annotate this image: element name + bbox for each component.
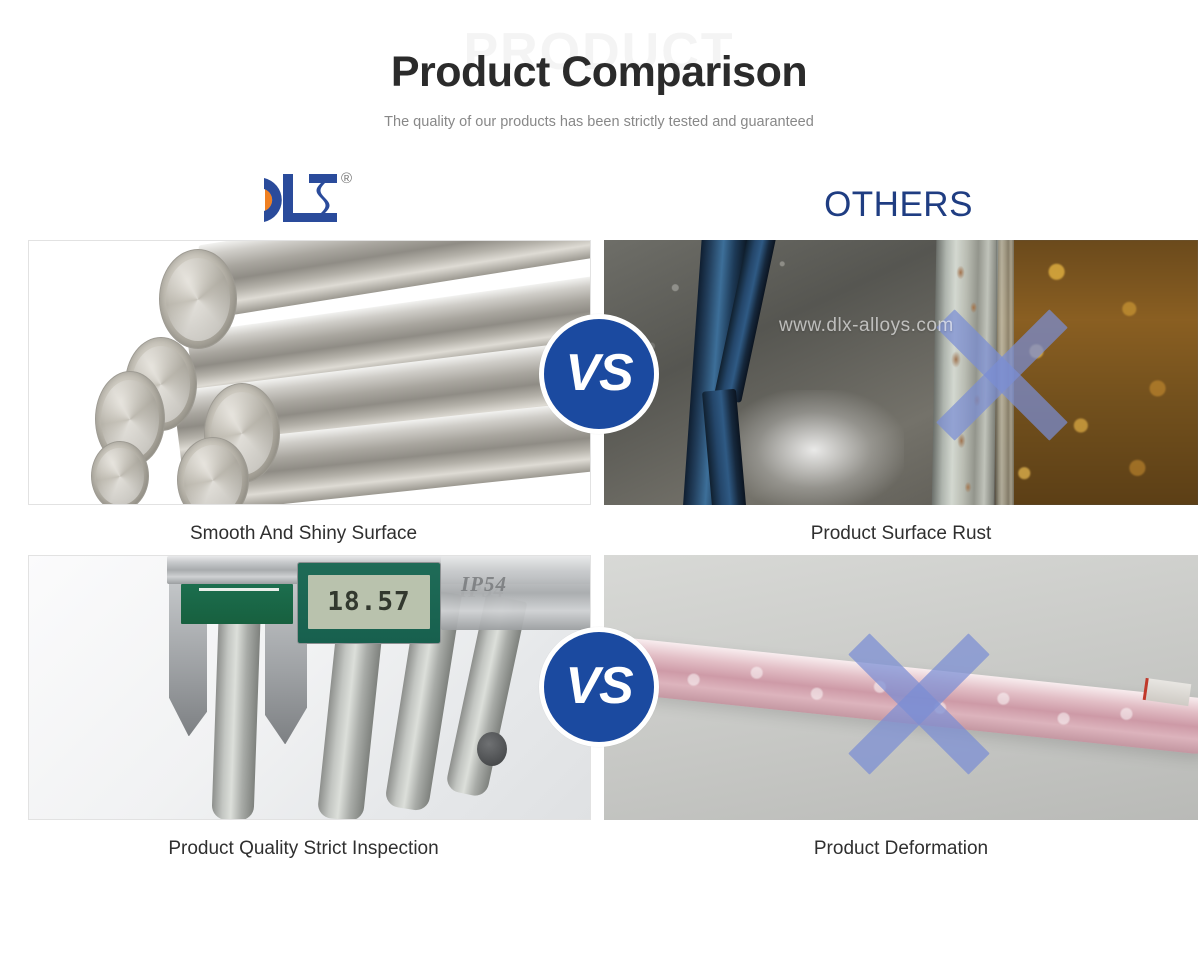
brand-ours: ® bbox=[0, 156, 599, 240]
caliper-ip-rating-label: IP54 bbox=[461, 572, 507, 597]
comparison-cell-bad-1: www.dlx-alloys.com Product Surface Rust bbox=[599, 240, 1198, 545]
site-watermark-text: www.dlx-alloys.com bbox=[779, 315, 954, 337]
comparison-cell-bad-2: Product Deformation bbox=[599, 555, 1198, 860]
comparison-grid: Smooth And Shiny Surface bbox=[0, 240, 1198, 860]
bad-product-image-2 bbox=[604, 555, 1198, 820]
caliper-inspection-photo: 18.57 IP54 IP54 bbox=[29, 556, 590, 819]
brand-others: OTHERS bbox=[599, 156, 1198, 240]
dlx-logo-icon bbox=[257, 169, 339, 227]
caption-bad-1: Product Surface Rust bbox=[604, 505, 1198, 545]
page-header: PRODUCT Product Comparison The quality o… bbox=[0, 0, 1198, 130]
caliper-reading: 18.57 bbox=[327, 587, 410, 617]
vs-badge-label: VS bbox=[565, 347, 632, 399]
deformed-bar-photo bbox=[604, 555, 1198, 820]
vs-badge-label: VS bbox=[565, 660, 632, 712]
others-label: OTHERS bbox=[824, 185, 973, 225]
caliper-display-module: 18.57 bbox=[297, 562, 441, 644]
product-comparison-page: PRODUCT Product Comparison The quality o… bbox=[0, 0, 1198, 968]
brand-header-row: ® OTHERS bbox=[0, 156, 1198, 240]
rusty-pole-photo bbox=[604, 240, 1198, 505]
dark-rod-end bbox=[477, 732, 507, 766]
bad-product-image-1: www.dlx-alloys.com bbox=[604, 240, 1198, 505]
comparison-cell-good-2: 18.57 IP54 IP54 Product Quality Strict I… bbox=[0, 555, 599, 860]
comparison-cell-good-1: Smooth And Shiny Surface bbox=[0, 240, 599, 545]
page-title: Product Comparison bbox=[0, 48, 1198, 97]
scale-ticks bbox=[199, 588, 279, 591]
vs-badge-1: VS bbox=[539, 314, 659, 434]
caption-bad-2: Product Deformation bbox=[604, 820, 1198, 860]
steel-bars-photo bbox=[29, 241, 590, 504]
caption-good-2: Product Quality Strict Inspection bbox=[28, 820, 591, 860]
caption-good-1: Smooth And Shiny Surface bbox=[28, 505, 591, 545]
vs-badge-2: VS bbox=[539, 627, 659, 747]
registered-trademark-symbol: ® bbox=[341, 171, 352, 186]
caliper-lcd: 18.57 bbox=[308, 575, 430, 629]
page-subtitle: The quality of our products has been str… bbox=[0, 114, 1198, 130]
comparison-row-2: 18.57 IP54 IP54 Product Quality Strict I… bbox=[0, 555, 1198, 860]
good-product-image-2: 18.57 IP54 IP54 bbox=[28, 555, 591, 820]
comparison-row-1: Smooth And Shiny Surface bbox=[0, 240, 1198, 545]
good-product-image-1 bbox=[28, 240, 591, 505]
